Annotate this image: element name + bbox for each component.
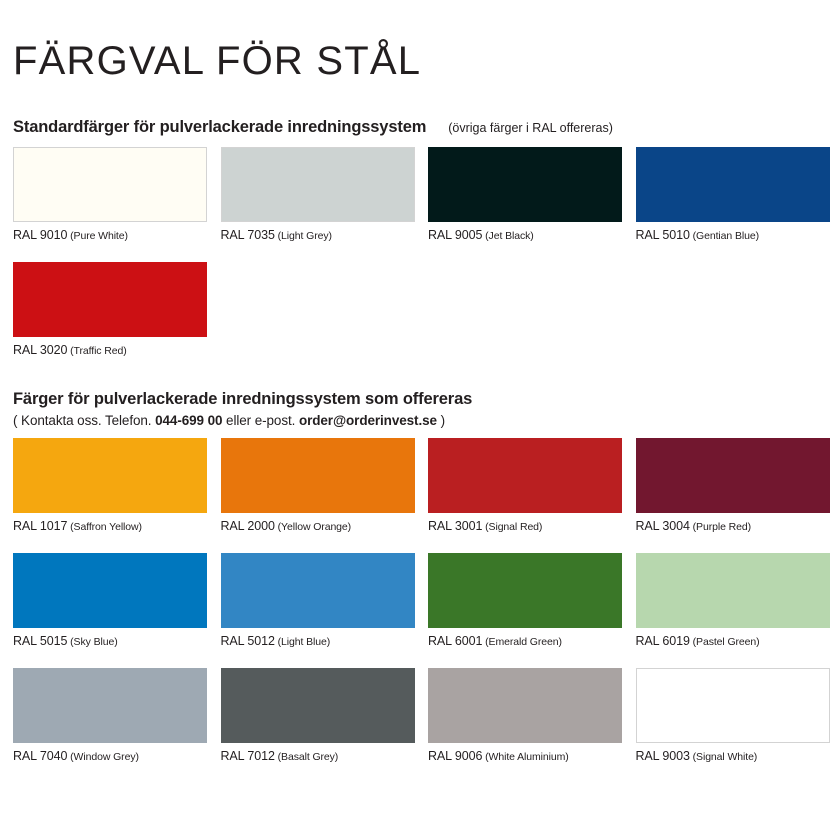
contact-middle: eller e-post. — [222, 413, 299, 428]
ral-code: RAL 6001 — [428, 634, 482, 648]
color-swatch-label: RAL 6019 (Pastel Green) — [636, 634, 830, 648]
contact-prefix: ( Kontakta oss. Telefon. — [13, 413, 155, 428]
color-swatch[interactable]: RAL 3004 (Purple Red) — [636, 438, 830, 533]
color-swatch-label: RAL 5012 (Light Blue) — [221, 634, 415, 648]
ral-color-name: (White Aluminium) — [482, 751, 568, 763]
ral-code: RAL 9003 — [636, 749, 690, 763]
ral-code: RAL 6019 — [636, 634, 690, 648]
color-chip[interactable] — [13, 262, 207, 337]
color-swatch-label: RAL 7040 (Window Grey) — [13, 749, 207, 763]
color-chip[interactable] — [428, 438, 622, 513]
color-swatch-label: RAL 3001 (Signal Red) — [428, 519, 622, 533]
ral-color-name: (Sky Blue) — [67, 636, 117, 648]
color-chip[interactable] — [428, 147, 622, 222]
color-swatch[interactable]: RAL 5010 (Gentian Blue) — [636, 147, 830, 242]
color-swatch-label: RAL 2000 (Yellow Orange) — [221, 519, 415, 533]
ral-code: RAL 7012 — [221, 749, 275, 763]
color-swatch[interactable]: RAL 6001 (Emerald Green) — [428, 553, 622, 648]
ral-code: RAL 9005 — [428, 228, 482, 242]
page-title: FÄRGVAL FÖR STÅL — [13, 38, 421, 84]
contact-line: ( Kontakta oss. Telefon. 044-699 00 elle… — [13, 413, 445, 428]
color-swatch[interactable]: RAL 3020 (Traffic Red) — [13, 262, 207, 357]
color-chip[interactable] — [221, 553, 415, 628]
color-swatch-label: RAL 6001 (Emerald Green) — [428, 634, 622, 648]
contact-suffix: ) — [437, 413, 445, 428]
ral-code: RAL 9006 — [428, 749, 482, 763]
color-chip[interactable] — [221, 668, 415, 743]
ral-color-name: (Emerald Green) — [482, 636, 562, 648]
ral-color-name: (Window Grey) — [67, 751, 139, 763]
color-swatch[interactable]: RAL 6019 (Pastel Green) — [636, 553, 830, 648]
color-swatch-label: RAL 7035 (Light Grey) — [221, 228, 415, 242]
color-swatch[interactable]: RAL 7035 (Light Grey) — [221, 147, 415, 242]
contact-phone: 044-699 00 — [155, 413, 222, 428]
color-chip[interactable] — [221, 147, 415, 222]
ral-color-name: (Yellow Orange) — [275, 521, 351, 533]
color-swatch-label: RAL 9003 (Signal White) — [636, 749, 830, 763]
color-swatch-label: RAL 7012 (Basalt Grey) — [221, 749, 415, 763]
color-chip[interactable] — [636, 147, 830, 222]
ral-color-name: (Purple Red) — [690, 521, 751, 533]
color-swatch-label: RAL 5015 (Sky Blue) — [13, 634, 207, 648]
color-swatch[interactable]: RAL 2000 (Yellow Orange) — [221, 438, 415, 533]
ral-color-name: (Traffic Red) — [67, 345, 126, 357]
ral-color-name: (Pastel Green) — [690, 636, 760, 648]
color-chip[interactable] — [428, 553, 622, 628]
ral-color-name: (Basalt Grey) — [275, 751, 338, 763]
ral-code: RAL 9010 — [13, 228, 67, 242]
color-chip[interactable] — [221, 438, 415, 513]
ral-color-name: (Jet Black) — [482, 230, 533, 242]
color-chip[interactable] — [636, 668, 830, 743]
ral-code: RAL 1017 — [13, 519, 67, 533]
color-swatch[interactable]: RAL 5015 (Sky Blue) — [13, 553, 207, 648]
ral-color-name: (Gentian Blue) — [690, 230, 759, 242]
ral-color-name: (Light Grey) — [275, 230, 332, 242]
section-offered-heading: Färger för pulverlackerade inredningssys… — [13, 390, 472, 408]
color-swatch[interactable]: RAL 9005 (Jet Black) — [428, 147, 622, 242]
color-chip[interactable] — [13, 147, 207, 222]
ral-color-name: (Signal White) — [690, 751, 757, 763]
section-standard-note: (övriga färger i RAL offereras) — [448, 121, 613, 135]
color-chart-page: FÄRGVAL FÖR STÅL Standardfärger för pulv… — [0, 0, 840, 840]
ral-code: RAL 2000 — [221, 519, 275, 533]
color-chip[interactable] — [636, 438, 830, 513]
color-chip[interactable] — [13, 553, 207, 628]
ral-code: RAL 3020 — [13, 343, 67, 357]
color-swatch-label: RAL 9005 (Jet Black) — [428, 228, 622, 242]
color-swatch[interactable]: RAL 5012 (Light Blue) — [221, 553, 415, 648]
ral-color-name: (Saffron Yellow) — [67, 521, 142, 533]
ral-color-name: (Signal Red) — [482, 521, 542, 533]
color-swatch-label: RAL 3004 (Purple Red) — [636, 519, 830, 533]
color-swatch[interactable]: RAL 9006 (White Aluminium) — [428, 668, 622, 763]
color-swatch-label: RAL 5010 (Gentian Blue) — [636, 228, 830, 242]
color-swatch[interactable]: RAL 3001 (Signal Red) — [428, 438, 622, 533]
ral-code: RAL 5012 — [221, 634, 275, 648]
ral-code: RAL 7040 — [13, 749, 67, 763]
color-swatch[interactable]: RAL 1017 (Saffron Yellow) — [13, 438, 207, 533]
color-chip[interactable] — [13, 668, 207, 743]
color-swatch-label: RAL 9010 (Pure White) — [13, 228, 207, 242]
ral-code: RAL 7035 — [221, 228, 275, 242]
color-swatch[interactable]: RAL 9003 (Signal White) — [636, 668, 830, 763]
section-standard-heading: Standardfärger för pulverlackerade inred… — [13, 118, 426, 136]
color-chip[interactable] — [428, 668, 622, 743]
ral-code: RAL 3004 — [636, 519, 690, 533]
color-swatch[interactable]: RAL 7012 (Basalt Grey) — [221, 668, 415, 763]
color-swatch-label: RAL 9006 (White Aluminium) — [428, 749, 622, 763]
color-chip[interactable] — [636, 553, 830, 628]
color-swatch-label: RAL 1017 (Saffron Yellow) — [13, 519, 207, 533]
color-swatch[interactable]: RAL 7040 (Window Grey) — [13, 668, 207, 763]
contact-email[interactable]: order@orderinvest.se — [299, 413, 437, 428]
color-chip[interactable] — [13, 438, 207, 513]
color-swatch[interactable]: RAL 9010 (Pure White) — [13, 147, 207, 242]
ral-color-name: (Pure White) — [67, 230, 128, 242]
section-offered-heading-row: Färger för pulverlackerade inredningssys… — [13, 390, 472, 409]
ral-code: RAL 3001 — [428, 519, 482, 533]
color-swatch-label: RAL 3020 (Traffic Red) — [13, 343, 207, 357]
section-standard-heading-row: Standardfärger för pulverlackerade inred… — [13, 118, 613, 137]
ral-code: RAL 5015 — [13, 634, 67, 648]
ral-color-name: (Light Blue) — [275, 636, 330, 648]
ral-code: RAL 5010 — [636, 228, 690, 242]
